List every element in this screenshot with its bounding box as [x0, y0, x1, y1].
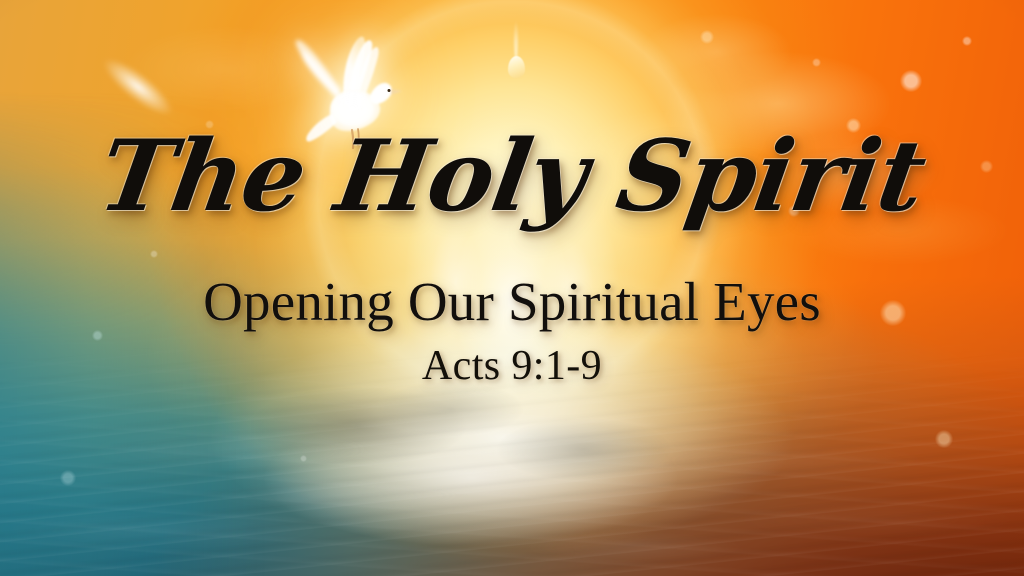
droplet-bead — [508, 56, 525, 78]
water-droplet-icon — [505, 20, 527, 78]
sermon-subtitle: Opening Our Spiritual Eyes — [0, 274, 1024, 329]
droplet-tail — [514, 20, 518, 60]
sermon-title-slide: The Holy Spirit Opening Our Spiritual Ey… — [0, 0, 1024, 576]
dove-eye — [388, 89, 391, 92]
page-title: The Holy Spirit — [0, 128, 1024, 226]
light-streak-icon — [97, 51, 180, 124]
scripture-reference: Acts 9:1-9 — [0, 345, 1024, 387]
dove-wing-left — [296, 40, 342, 100]
